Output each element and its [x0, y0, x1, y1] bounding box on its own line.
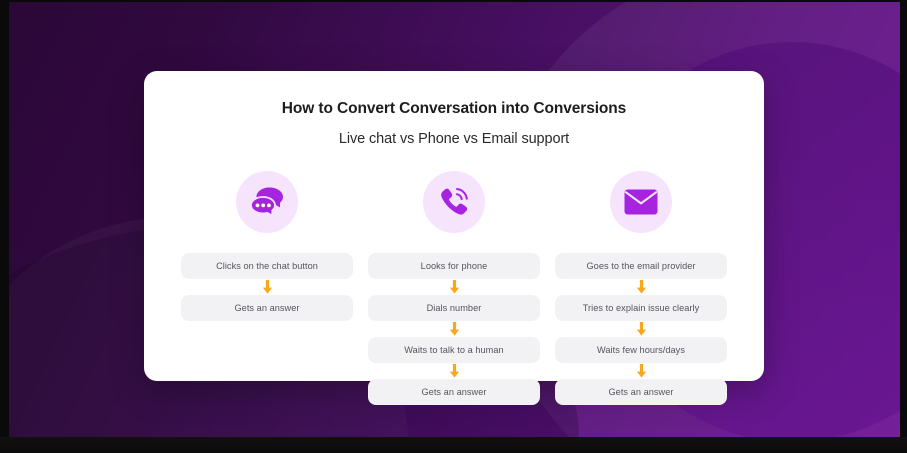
window-frame-left: [0, 0, 9, 453]
column-email: Goes to the email provider Tries to expl…: [555, 171, 727, 405]
window-frame-top: [0, 0, 907, 2]
window-frame-bottom: [0, 437, 907, 453]
comparison-columns: Clicks on the chat button Gets an answer: [144, 171, 764, 405]
phone-call-icon: [423, 171, 485, 233]
step-pill: Dials number: [368, 295, 540, 321]
arrow-down-icon: [636, 279, 647, 295]
column-phone: Looks for phone Dials number Waits to ta…: [368, 171, 540, 405]
step-pill: Goes to the email provider: [555, 253, 727, 279]
step-pill: Waits few hours/days: [555, 337, 727, 363]
arrow-down-icon: [262, 279, 273, 295]
arrow-down-icon: [636, 363, 647, 379]
page-title: How to Convert Conversation into Convers…: [144, 100, 764, 118]
step-pill: Waits to talk to a human: [368, 337, 540, 363]
step-pill: Gets an answer: [181, 295, 353, 321]
arrow-down-icon: [449, 279, 460, 295]
steps-email: Goes to the email provider Tries to expl…: [555, 253, 727, 405]
arrow-down-icon: [449, 321, 460, 337]
step-pill: Gets an answer: [368, 379, 540, 405]
envelope-icon: [610, 171, 672, 233]
step-pill: Clicks on the chat button: [181, 253, 353, 279]
step-pill: Gets an answer: [555, 379, 727, 405]
chat-bubbles-icon: [236, 171, 298, 233]
step-pill: Looks for phone: [368, 253, 540, 279]
page-subtitle: Live chat vs Phone vs Email support: [144, 131, 764, 147]
arrow-down-icon: [636, 321, 647, 337]
steps-live-chat: Clicks on the chat button Gets an answer: [181, 253, 353, 321]
steps-phone: Looks for phone Dials number Waits to ta…: [368, 253, 540, 405]
step-pill: Tries to explain issue clearly: [555, 295, 727, 321]
window-frame-right: [900, 0, 907, 453]
screenshot-root: How to Convert Conversation into Convers…: [0, 0, 907, 453]
infographic-card: How to Convert Conversation into Convers…: [144, 71, 764, 381]
column-live-chat: Clicks on the chat button Gets an answer: [181, 171, 353, 405]
arrow-down-icon: [449, 363, 460, 379]
